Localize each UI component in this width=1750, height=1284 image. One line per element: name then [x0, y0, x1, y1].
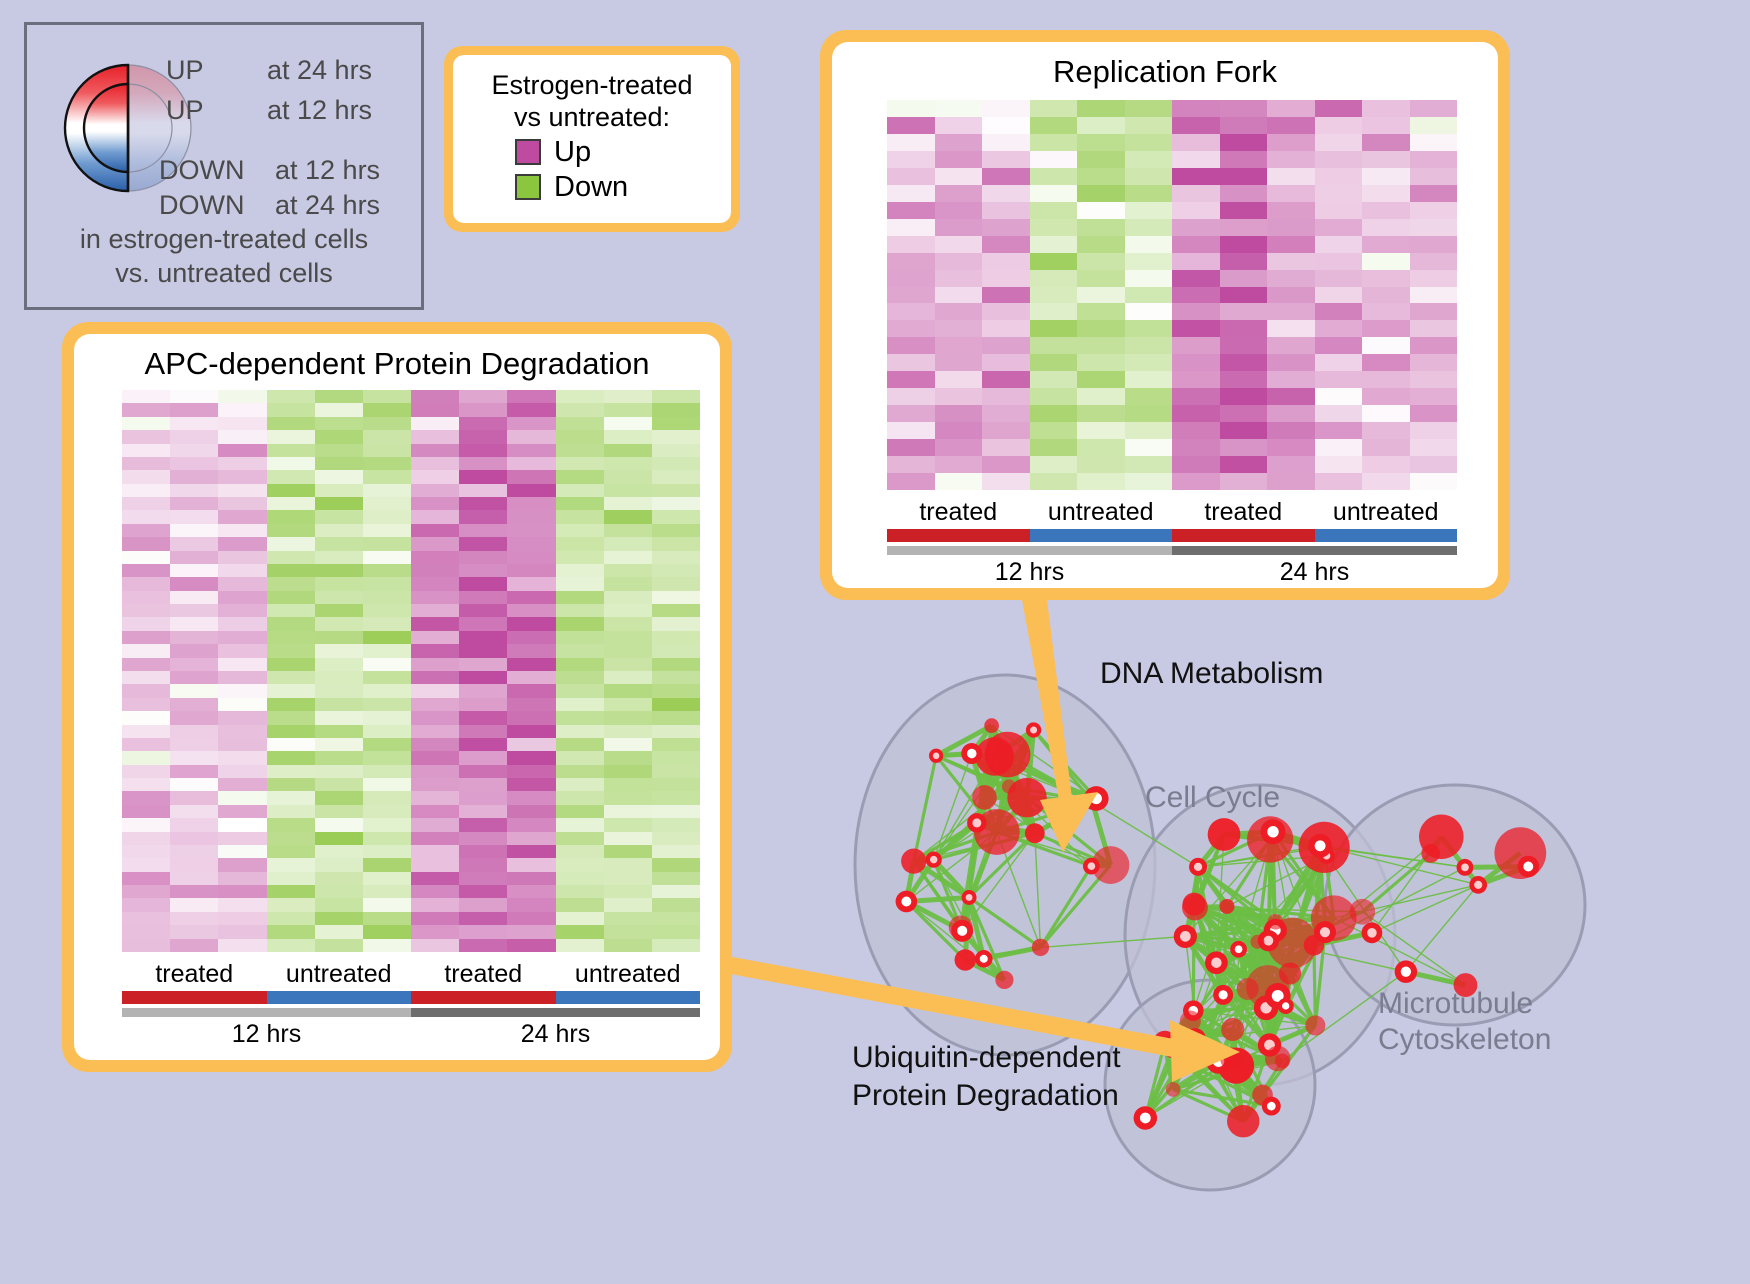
network-node-core	[1474, 881, 1482, 889]
heatmap-cell	[556, 805, 604, 818]
heatmap-cell	[652, 671, 700, 684]
heatmap-cell	[363, 457, 411, 470]
heatmap-cell	[170, 925, 218, 938]
heatmap-cell	[1315, 236, 1363, 253]
heatmap-cell	[982, 236, 1030, 253]
heatmap-cell	[170, 872, 218, 885]
heatmap-cell	[122, 577, 170, 590]
heatmap-cell	[604, 551, 652, 564]
heatmap-cell	[652, 858, 700, 871]
heatmap-cell	[935, 100, 983, 117]
heatmap-cell	[1030, 287, 1078, 304]
heatmap-cell	[507, 484, 555, 497]
heatmap-cell	[122, 845, 170, 858]
axis-condition-labels: treateduntreatedtreateduntreated	[887, 498, 1457, 527]
heatmap-cell	[267, 644, 315, 657]
heatmap-cell	[652, 658, 700, 671]
heatmap-cell	[507, 791, 555, 804]
heatmap-cell	[122, 912, 170, 925]
heatmap-cell	[315, 444, 363, 457]
heatmap-cell	[363, 872, 411, 885]
network-node-core	[1190, 1034, 1200, 1044]
heatmap-cell	[1030, 388, 1078, 405]
heatmap-cell	[982, 287, 1030, 304]
heatmap-cell	[170, 484, 218, 497]
heatmap-cell	[267, 591, 315, 604]
heatmap-cell	[315, 818, 363, 831]
heatmap-cell	[1267, 287, 1315, 304]
heatmap-cell	[363, 484, 411, 497]
heatmap-cell	[556, 444, 604, 457]
heatmap-cell	[556, 390, 604, 403]
heatmap-cell	[459, 524, 507, 537]
panel-replication-fork: Replication Fork treateduntreatedtreated…	[820, 30, 1510, 600]
axis-time-bar	[411, 1008, 700, 1017]
heatmap-cell	[363, 631, 411, 644]
axis-time-labels: 12 hrs24 hrs	[122, 1020, 700, 1049]
heatmap-cell	[122, 711, 170, 724]
heatmap-cell	[122, 791, 170, 804]
network-node-core	[1264, 936, 1274, 946]
heatmap-cell	[507, 591, 555, 604]
heatmap-cell	[122, 778, 170, 791]
network-node	[1237, 978, 1259, 1000]
heatmap-cell	[411, 604, 459, 617]
heatmap-cell	[652, 417, 700, 430]
heatmap-cell	[411, 577, 459, 590]
heatmap-cell	[935, 117, 983, 134]
heatmap-cell	[363, 832, 411, 845]
heatmap-cell	[556, 497, 604, 510]
heatmap-cell	[556, 778, 604, 791]
heatmap-cell	[507, 551, 555, 564]
heatmap-cell	[122, 698, 170, 711]
heatmap-cell	[170, 551, 218, 564]
heatmap-cell	[1267, 422, 1315, 439]
heatmap-cell	[122, 551, 170, 564]
heatmap-cell	[411, 912, 459, 925]
heatmap-cell	[1315, 456, 1363, 473]
legend-row-1-word: UP	[166, 95, 204, 126]
heatmap-cell	[363, 845, 411, 858]
heatmap-cell	[1077, 219, 1125, 236]
heatmap-cell	[1362, 202, 1410, 219]
heatmap-cell	[170, 631, 218, 644]
heatmap-cell	[122, 457, 170, 470]
heatmap-cell	[459, 564, 507, 577]
heatmap-cell	[982, 320, 1030, 337]
heatmap-cell	[982, 388, 1030, 405]
legend-row-2-word: DOWN	[159, 155, 244, 186]
heatmap-cell	[1030, 100, 1078, 117]
heatmap-cell	[363, 497, 411, 510]
heatmap-cell	[1315, 168, 1363, 185]
heatmap-cell	[122, 510, 170, 523]
heatmap-cell	[1220, 371, 1268, 388]
heatmap-cell	[122, 658, 170, 671]
heatmap-cell	[1315, 388, 1363, 405]
heatmap-cell	[1267, 185, 1315, 202]
heatmap-cell	[363, 604, 411, 617]
heatmap-cell	[935, 253, 983, 270]
heatmap-cell	[267, 604, 315, 617]
heatmap-cell	[887, 270, 935, 287]
heatmap-cell	[604, 577, 652, 590]
heatmap-cell	[122, 684, 170, 697]
heatmap-cell	[507, 631, 555, 644]
cluster-label-dna-metabolism: DNA Metabolism	[1100, 657, 1323, 691]
axis-condition-label: untreated	[1315, 498, 1458, 527]
heatmap-cell	[935, 185, 983, 202]
heatmap-cell	[1410, 337, 1458, 354]
heatmap-cell	[652, 644, 700, 657]
heatmap-cell	[1362, 439, 1410, 456]
heatmap-cell	[887, 405, 935, 422]
heatmap-cell	[507, 497, 555, 510]
heatmap-cell	[652, 403, 700, 416]
heatmap-cell	[1030, 151, 1078, 168]
heatmap-cell	[122, 898, 170, 911]
heatmap-cell	[363, 939, 411, 952]
heatmap-cell	[170, 604, 218, 617]
heatmap-cell	[1030, 202, 1078, 219]
heatmap-cell	[122, 524, 170, 537]
heatmap-cell	[982, 473, 1030, 490]
heatmap-cell	[1077, 117, 1125, 134]
heatmap-cell	[267, 925, 315, 938]
heatmap-cell	[982, 168, 1030, 185]
heatmap-cell	[935, 168, 983, 185]
heatmap-cell	[315, 671, 363, 684]
heatmap-cell	[1410, 287, 1458, 304]
heatmap-cell	[122, 470, 170, 483]
heatmap-cell	[1410, 117, 1458, 134]
heatmap-cell	[459, 845, 507, 858]
heatmap-cell	[122, 591, 170, 604]
heatmap-cell	[218, 925, 266, 938]
network-node	[955, 949, 976, 970]
heatmap-cell	[218, 872, 266, 885]
heatmap-cell	[363, 470, 411, 483]
panel-apc-degradation-title: APC-dependent Protein Degradation	[74, 334, 720, 382]
heatmap-cell	[170, 390, 218, 403]
heatmap-cell	[652, 591, 700, 604]
heatmap-cell	[935, 219, 983, 236]
heatmap-cell	[1125, 100, 1173, 117]
heatmap-cell	[122, 738, 170, 751]
heatmap-cell	[1172, 219, 1220, 236]
heatmap-cell	[218, 858, 266, 871]
heatmap-cell	[411, 872, 459, 885]
heatmap-cell	[218, 765, 266, 778]
heatmap-cell	[652, 885, 700, 898]
heatmap-cell	[887, 236, 935, 253]
heatmap-cell	[1267, 219, 1315, 236]
heatmap-cell	[363, 671, 411, 684]
heatmap-cell	[122, 765, 170, 778]
heatmap-cell	[1030, 134, 1078, 151]
heatmap-cell	[507, 939, 555, 952]
heatmap-cell	[1315, 134, 1363, 151]
heatmap-cell	[935, 151, 983, 168]
axis-time-bar	[122, 1008, 411, 1017]
heatmap-cell	[267, 524, 315, 537]
network-node-core	[1091, 793, 1102, 804]
heatmap-cell	[982, 354, 1030, 371]
heatmap-cell	[604, 858, 652, 871]
heatmap-cell	[459, 644, 507, 657]
heatmap-cell	[652, 925, 700, 938]
heatmap-cell	[652, 430, 700, 443]
heatmap-cell	[411, 417, 459, 430]
heatmap-cell	[556, 430, 604, 443]
heatmap-cell	[1172, 405, 1220, 422]
heatmap-cell	[935, 303, 983, 320]
heatmap-cell	[267, 684, 315, 697]
legend-entry-up-label: Up	[554, 136, 591, 169]
heatmap-cell	[935, 405, 983, 422]
heatmap-cell	[1172, 388, 1220, 405]
heatmap-cell	[459, 725, 507, 738]
heatmap-apc-degradation	[122, 390, 700, 952]
heatmap-cell	[218, 617, 266, 630]
cluster-label-ubiquitin-line1: Ubiquitin-dependent	[852, 1041, 1121, 1075]
heatmap-cell	[1410, 202, 1458, 219]
heatmap-cell	[1410, 456, 1458, 473]
heatmap-cell	[459, 617, 507, 630]
heatmap-cell	[1362, 354, 1410, 371]
heatmap-cell	[411, 765, 459, 778]
heatmap-cell	[122, 403, 170, 416]
axis-condition-bar	[411, 991, 556, 1004]
heatmap-cell	[363, 644, 411, 657]
heatmap-cell	[556, 698, 604, 711]
heatmap-cell	[363, 430, 411, 443]
heatmap-cell	[1077, 151, 1125, 168]
network-node	[1166, 1082, 1181, 1097]
heatmap-cell	[1172, 473, 1220, 490]
heatmap-cell	[1362, 253, 1410, 270]
network-node	[1265, 1046, 1290, 1071]
heatmap-cell	[1410, 151, 1458, 168]
heatmap-cell	[556, 832, 604, 845]
axis-condition-bar	[267, 991, 412, 1004]
heatmap-cell	[170, 791, 218, 804]
heatmap-cell	[604, 725, 652, 738]
heatmap-cell	[1172, 168, 1220, 185]
heatmap-cell	[459, 751, 507, 764]
heatmap-cell	[556, 403, 604, 416]
heatmap-cell	[170, 684, 218, 697]
heatmap-cell	[1362, 422, 1410, 439]
network-node-core	[1282, 1002, 1289, 1009]
heatmap-cell	[652, 577, 700, 590]
heatmap-cell	[122, 872, 170, 885]
heatmap-cell	[363, 524, 411, 537]
heatmap-cell	[267, 497, 315, 510]
panel-apc-degradation: APC-dependent Protein Degradation treate…	[62, 322, 732, 1072]
network-node	[1268, 914, 1284, 930]
heatmap-cell	[1410, 168, 1458, 185]
heatmap-cell	[507, 711, 555, 724]
heatmap-cell	[507, 524, 555, 537]
heatmap-cell	[887, 185, 935, 202]
heatmap-cell	[315, 658, 363, 671]
heatmap-cell	[1172, 422, 1220, 439]
heatmap-cell	[218, 658, 266, 671]
heatmap-cell	[1077, 388, 1125, 405]
heatmap-cell	[556, 684, 604, 697]
axis-time-bar	[1172, 546, 1457, 555]
heatmap-cell	[1030, 456, 1078, 473]
heatmap-cell	[170, 725, 218, 738]
heatmap-cell	[411, 858, 459, 871]
heatmap-cell	[170, 444, 218, 457]
heatmap-cell	[122, 617, 170, 630]
heatmap-cell	[411, 671, 459, 684]
legend-entry-down: Down	[515, 171, 628, 204]
heatmap-cell	[170, 537, 218, 550]
heatmap-cell	[556, 551, 604, 564]
network-node-core	[1168, 1041, 1179, 1052]
heatmap-cell	[1125, 117, 1173, 134]
heatmap-cell	[411, 390, 459, 403]
heatmap-cell	[267, 778, 315, 791]
heatmap-cell	[1077, 473, 1125, 490]
heatmap-cell	[1172, 287, 1220, 304]
heatmap-cell	[1267, 303, 1315, 320]
heatmap-cell	[1220, 388, 1268, 405]
heatmap-cell	[1315, 473, 1363, 490]
heatmap-cell	[1220, 202, 1268, 219]
heatmap-cell	[218, 510, 266, 523]
heatmap-cell	[459, 444, 507, 457]
heatmap-cell	[170, 403, 218, 416]
network-node-core	[1196, 1050, 1203, 1057]
heatmap-cell	[218, 470, 266, 483]
axis-time-label: 12 hrs	[887, 558, 1172, 587]
heatmap-cell	[363, 885, 411, 898]
heatmap-cell	[315, 631, 363, 644]
heatmap-cell	[363, 591, 411, 604]
heatmap-cell	[411, 658, 459, 671]
heatmap-cell	[604, 403, 652, 416]
heatmap-cell	[652, 765, 700, 778]
heatmap-cell	[887, 422, 935, 439]
legend-card-title-line1: Estrogen-treated	[491, 69, 692, 101]
heatmap-cell	[170, 698, 218, 711]
heatmap-cell	[1125, 287, 1173, 304]
heatmap-cell	[411, 470, 459, 483]
heatmap-cell	[218, 497, 266, 510]
heatmap-cell	[267, 711, 315, 724]
network-node-core	[1320, 927, 1330, 937]
heatmap-cell	[315, 765, 363, 778]
heatmap-cell	[652, 484, 700, 497]
heatmap-cell	[1125, 219, 1173, 236]
heatmap-cell	[982, 405, 1030, 422]
heatmap-cell	[1125, 236, 1173, 253]
heatmap-cell	[887, 134, 935, 151]
heatmap-cell	[363, 751, 411, 764]
heatmap-cell	[411, 791, 459, 804]
heatmap-cell	[935, 354, 983, 371]
heatmap-cell	[1125, 405, 1173, 422]
heatmap-cell	[122, 497, 170, 510]
heatmap-cell	[604, 671, 652, 684]
heatmap-cell	[170, 457, 218, 470]
heatmap-cell	[170, 858, 218, 871]
heatmap-cell	[507, 604, 555, 617]
heatmap-cell	[315, 925, 363, 938]
heatmap-cell	[218, 551, 266, 564]
heatmap-cell	[604, 564, 652, 577]
network-node-core	[967, 749, 977, 759]
axis-condition-bar	[556, 991, 701, 1004]
heatmap-cell	[1362, 456, 1410, 473]
heatmap-cell	[935, 320, 983, 337]
heatmap-cell	[1315, 117, 1363, 134]
heatmap-cell	[1267, 456, 1315, 473]
network-node-core	[901, 897, 911, 907]
heatmap-cell	[1410, 422, 1458, 439]
heatmap-cell	[170, 832, 218, 845]
heatmap-cell	[411, 925, 459, 938]
heatmap-cell	[507, 671, 555, 684]
axis-time-label: 24 hrs	[1172, 558, 1457, 587]
heatmap-cell	[411, 805, 459, 818]
heatmap-cell	[315, 510, 363, 523]
heatmap-cell	[459, 711, 507, 724]
heatmap-cell	[556, 604, 604, 617]
heatmap-cell	[1220, 253, 1268, 270]
heatmap-cell	[363, 791, 411, 804]
heatmap-cell	[459, 631, 507, 644]
heatmap-cell	[604, 537, 652, 550]
heatmap-cell	[122, 604, 170, 617]
heatmap-cell	[363, 551, 411, 564]
heatmap-cell	[218, 564, 266, 577]
network-node-core	[1030, 726, 1037, 733]
heatmap-cell	[1030, 320, 1078, 337]
heatmap-cell	[1362, 117, 1410, 134]
heatmap-cell	[459, 430, 507, 443]
heatmap-cell	[1267, 473, 1315, 490]
heatmap-cell	[170, 591, 218, 604]
heatmap-cell	[218, 751, 266, 764]
heatmap-cell	[363, 698, 411, 711]
heatmap-cell	[363, 765, 411, 778]
heatmap-cell	[1125, 337, 1173, 354]
heatmap-cell	[459, 858, 507, 871]
heatmap-cell	[315, 497, 363, 510]
heatmap-cell	[604, 791, 652, 804]
heatmap-cell	[887, 456, 935, 473]
heatmap-cell	[1267, 236, 1315, 253]
heatmap-cell	[1315, 371, 1363, 388]
network-node	[1025, 823, 1045, 843]
heatmap-cell	[1077, 236, 1125, 253]
heatmap-cell	[1410, 303, 1458, 320]
heatmap-cell	[887, 100, 935, 117]
heatmap-cell	[1362, 405, 1410, 422]
heatmap-cell	[218, 457, 266, 470]
heatmap-cell	[1220, 100, 1268, 117]
heatmap-cell	[170, 564, 218, 577]
heatmap-cell	[411, 698, 459, 711]
heatmap-cell	[1030, 337, 1078, 354]
heatmap-cell	[363, 510, 411, 523]
